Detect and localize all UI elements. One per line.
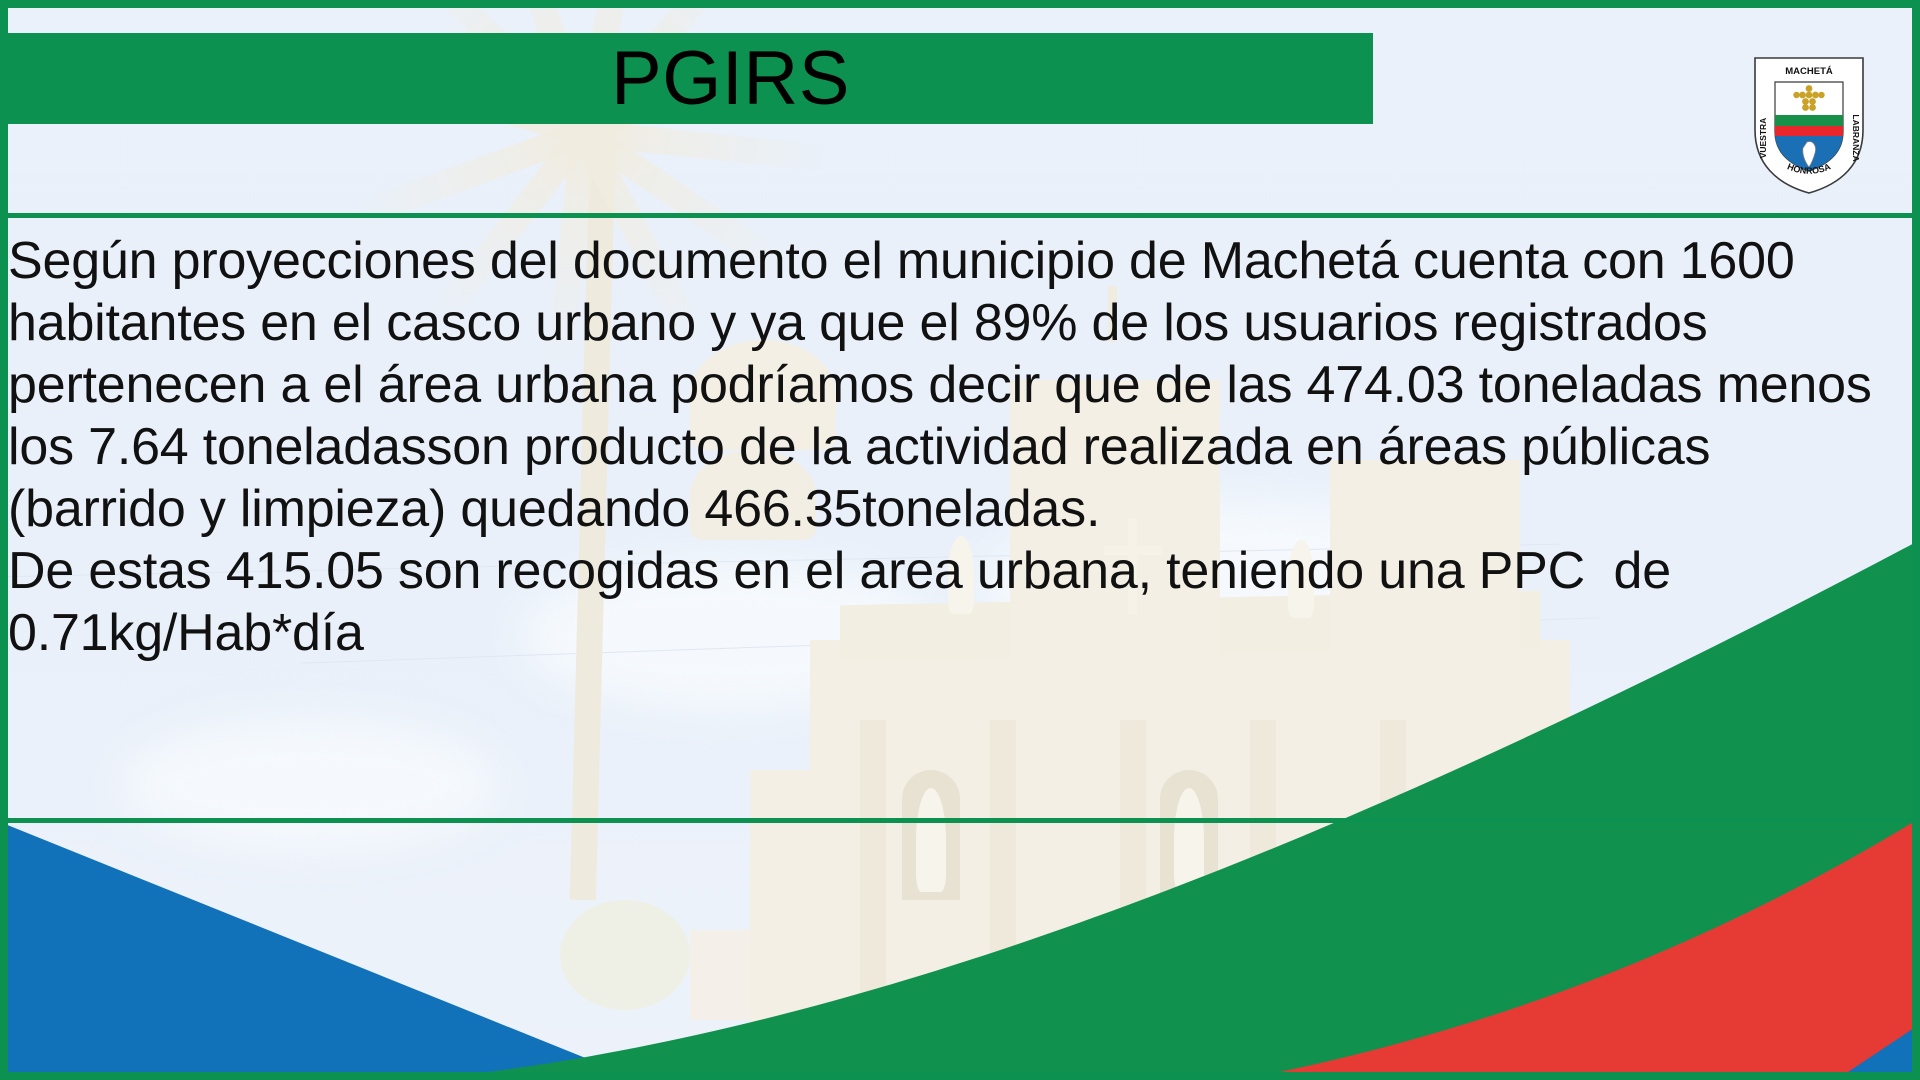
crest-left-text: VUESTRA: [1758, 118, 1768, 159]
page-title: PGIRS: [531, 41, 850, 117]
church-statue: [916, 788, 946, 892]
body-paragraph-1: Según proyecciones del documento el muni…: [8, 232, 1886, 538]
photo-tree: [560, 900, 690, 1010]
church-column: [1250, 720, 1276, 1080]
slide-canvas: PGIRS MACHETÁ: [0, 0, 1920, 1080]
church-column: [860, 720, 886, 1080]
body-paragraph-2: De estas 415.05 son recogidas en el area…: [8, 542, 1685, 662]
church-pedestal: [750, 770, 870, 1080]
divider-bottom: [8, 818, 1912, 823]
divider-top: [8, 213, 1912, 218]
crest-top-text: MACHETÁ: [1785, 66, 1833, 77]
crest-band-green: [1775, 115, 1843, 126]
church-column: [1380, 720, 1406, 1080]
crest-band-red: [1775, 126, 1843, 136]
coat-of-arms-icon: MACHETÁ VUESTRA LABRANZA HONROSA: [1745, 52, 1873, 197]
church-column: [1120, 720, 1146, 1080]
title-banner: PGIRS: [8, 33, 1373, 124]
body-text-block: Según proyecciones del documento el muni…: [8, 230, 1898, 664]
church-statue: [1174, 788, 1204, 892]
church-column: [990, 720, 1016, 1080]
crest-right-text: LABRANZA: [1851, 114, 1861, 161]
